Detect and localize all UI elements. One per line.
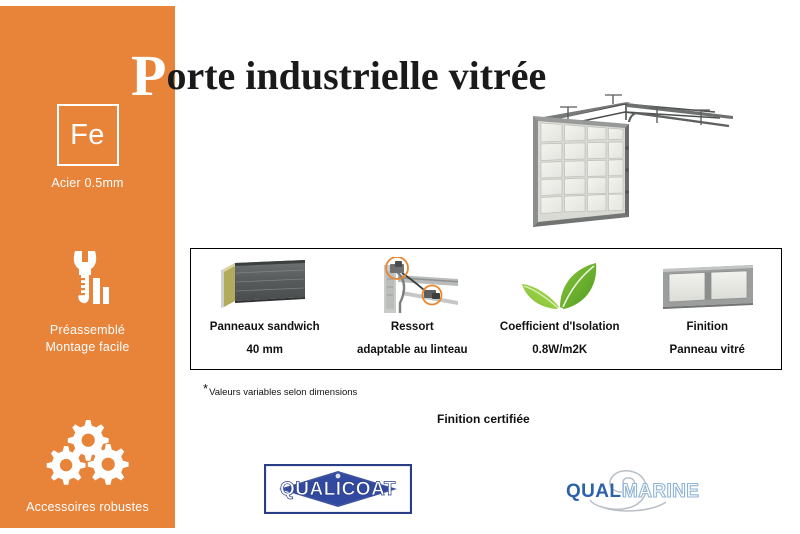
certified-finish-label: Finition certifiée xyxy=(437,412,530,426)
qualicoat-wordmark: QUALICOAT xyxy=(280,479,396,500)
sidebar-item-accessories-label: Accessoires robustes xyxy=(0,499,175,516)
feature-title: Panneaux sandwich xyxy=(210,320,320,334)
qualicoat-logo: QUALICOAT xyxy=(264,464,412,514)
feature-spring: Ressort adaptable au linteau xyxy=(339,249,487,369)
feature-value: 0.8W/m2K xyxy=(532,343,587,357)
sidebar-item-steel-label: Acier 0.5mm xyxy=(0,175,175,192)
spring-mechanism-image xyxy=(362,254,462,318)
industrial-glazed-sectional-door-photo xyxy=(505,82,750,230)
gears-icon xyxy=(0,418,175,491)
fe-element-icon: Fe xyxy=(57,104,119,166)
feature-insulation: Coefficient d'Isolation 0.8W/m2K xyxy=(486,249,634,369)
fe-symbol: Fe xyxy=(70,121,105,150)
feature-title: Coefficient d'Isolation xyxy=(500,320,620,334)
sidebar-item-preassembled-label-1: Préassemblé xyxy=(0,322,175,339)
qualimarine-logo: QUALI MARINE xyxy=(560,462,710,516)
features-panel: Panneaux sandwich 40 mm xyxy=(190,248,782,370)
glazed-panel-image xyxy=(655,254,759,318)
sidebar-item-preassembled-label-2: Montage facile xyxy=(0,339,175,356)
qualimarine-wordmark-light: MARINE xyxy=(622,481,699,502)
qualimarine-wordmark-strong: QUALI xyxy=(566,481,627,502)
page-title-initial: P xyxy=(131,43,166,108)
page-title: Porte industrielle vitrée xyxy=(131,51,546,101)
feature-value: 40 mm xyxy=(247,343,283,357)
feature-sandwich-panel: Panneaux sandwich 40 mm xyxy=(191,249,339,369)
green-leaves-icon xyxy=(514,254,606,318)
footnote: *Valeurs variables selon dimensions xyxy=(203,381,357,398)
wrench-tool-icon xyxy=(0,249,175,314)
feature-title: Finition xyxy=(686,320,728,334)
feature-value: Panneau vitré xyxy=(670,343,745,357)
asterisk-marker: * xyxy=(203,381,208,396)
sidebar-item-accessories: Accessoires robustes xyxy=(0,418,175,516)
poster-page: Fe Acier 0.5mm xyxy=(0,0,800,534)
feature-title: Ressort xyxy=(391,320,434,334)
footnote-text: Valeurs variables selon dimensions xyxy=(209,387,357,398)
sidebar-item-preassembled: Préassemblé Montage facile xyxy=(0,249,175,356)
feature-value: adaptable au linteau xyxy=(357,343,468,357)
sidebar-item-steel: Fe Acier 0.5mm xyxy=(0,104,175,192)
page-title-rest: orte industrielle vitrée xyxy=(166,53,546,98)
sandwich-panel-image xyxy=(215,254,315,318)
feature-finish: Finition Panneau vitré xyxy=(634,249,782,369)
